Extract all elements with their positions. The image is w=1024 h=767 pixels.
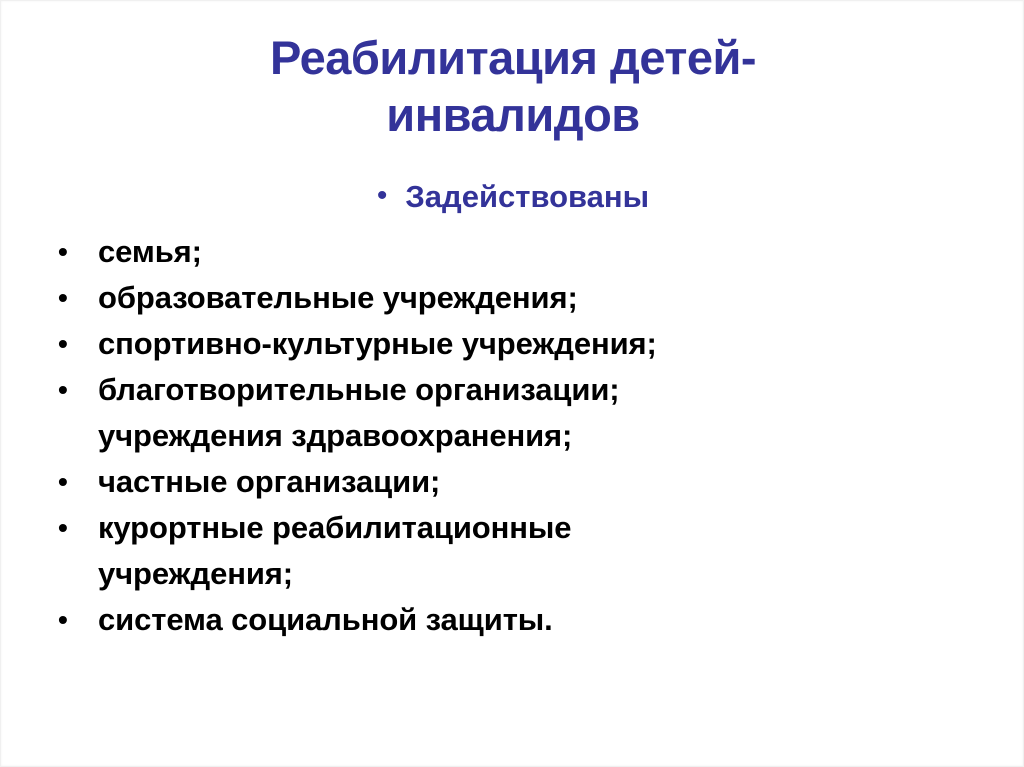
bullet-icon: • — [58, 597, 80, 643]
presentation-slide: Реабилитация детей- инвалидов • Задейств… — [0, 0, 1024, 767]
list-item-line: система социальной защиты. — [98, 597, 983, 643]
list-item: • спортивно-культурные учреждения; — [53, 321, 983, 367]
bullet-icon: • — [58, 459, 80, 505]
slide-title-line-2: инвалидов — [61, 86, 965, 143]
list-item-line: спортивно-культурные учреждения; — [98, 321, 983, 367]
bullet-icon: • — [58, 367, 80, 413]
list-item-line: частные организации; — [98, 459, 983, 505]
list-item-line: образовательные учреждения; — [98, 275, 983, 321]
list-item-line-wrap: учреждения; — [98, 551, 983, 597]
slide-subtitle: • Задействованы — [1, 179, 1024, 215]
list-item: • благотворительные организации; учрежде… — [53, 367, 983, 459]
bullet-icon: • — [377, 181, 388, 211]
list-item: • система социальной защиты. — [53, 597, 983, 643]
list-item-line-wrap: учреждения здравоохранения; — [98, 413, 983, 459]
list-item: • частные организации; — [53, 459, 983, 505]
bullet-list: • семья; • образовательные учреждения; •… — [53, 229, 983, 643]
slide-title-line-1: Реабилитация детей- — [61, 29, 965, 86]
list-item: • курортные реабилитационные учреждения; — [53, 505, 983, 597]
bullet-icon: • — [58, 229, 80, 275]
list-item: • семья; — [53, 229, 983, 275]
list-item: • образовательные учреждения; — [53, 275, 983, 321]
bullet-icon: • — [58, 505, 80, 551]
subtitle-row: • Задействованы — [377, 179, 649, 215]
subtitle-label: Задействованы — [405, 179, 649, 215]
list-item-line: благотворительные организации; — [98, 367, 983, 413]
list-item-line: курортные реабилитационные — [98, 505, 983, 551]
list-item-line: семья; — [98, 229, 983, 275]
bullet-icon: • — [58, 321, 80, 367]
bullet-icon: • — [58, 275, 80, 321]
slide-title: Реабилитация детей- инвалидов — [61, 29, 965, 143]
